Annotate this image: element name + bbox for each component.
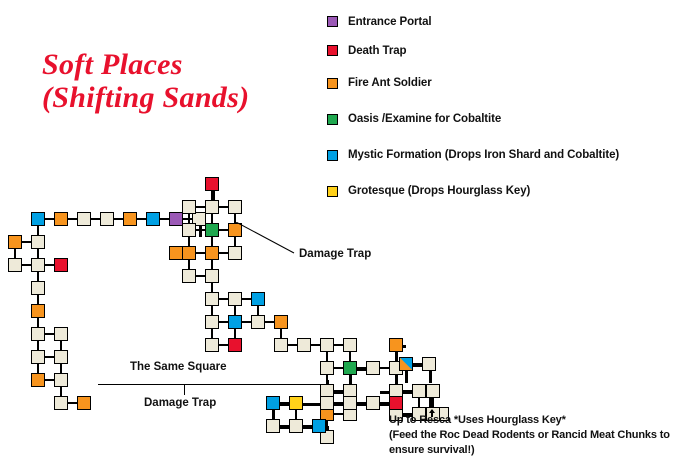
map-room-room[interactable] — [297, 338, 311, 352]
map-room-room[interactable] — [182, 200, 196, 214]
map-room-fireant[interactable] — [389, 338, 403, 352]
bottom-note: Up to Resca *Uses Hourglass Key* (Feed t… — [389, 413, 670, 458]
map-room-fireant[interactable] — [31, 373, 45, 387]
map-room-death[interactable] — [389, 396, 403, 410]
map-room-room[interactable] — [54, 396, 68, 410]
map-room-room[interactable] — [228, 292, 242, 306]
map-room-fireant[interactable] — [54, 212, 68, 226]
map-room-oasis[interactable] — [343, 361, 357, 375]
map-room-fireant[interactable] — [77, 396, 91, 410]
map-room-mystic[interactable] — [31, 212, 45, 226]
map-corridor — [199, 226, 202, 237]
map-room-room[interactable] — [251, 315, 265, 329]
annotation-damage-trap-upper: Damage Trap — [299, 248, 371, 260]
map-room-room[interactable] — [54, 327, 68, 341]
map-room-grotesque[interactable] — [289, 396, 303, 410]
map-room-fireant[interactable] — [274, 315, 288, 329]
map-room-room[interactable] — [205, 269, 219, 283]
map-room-room[interactable] — [228, 200, 242, 214]
map-room-fireant[interactable] — [8, 235, 22, 249]
map-room-fireant[interactable] — [182, 246, 196, 260]
map-room-room[interactable] — [54, 350, 68, 364]
map-room-room[interactable] — [320, 361, 334, 375]
map-room-room[interactable] — [31, 327, 45, 341]
map-room-mystic[interactable] — [266, 396, 280, 410]
map-room-oasis[interactable] — [205, 223, 219, 237]
map-room-room[interactable] — [266, 419, 280, 433]
map-room-mystic[interactable] — [228, 315, 242, 329]
map-room-room[interactable] — [422, 357, 436, 371]
map-room-room[interactable] — [205, 292, 219, 306]
map-room-room[interactable] — [228, 246, 242, 260]
map-canvas: Soft Places (Shifting Sands) Entrance Po… — [0, 0, 693, 461]
map-room-room[interactable] — [54, 373, 68, 387]
map-room-room[interactable] — [366, 361, 380, 375]
map-room-fireant[interactable] — [228, 223, 242, 237]
map-corridor — [405, 371, 408, 383]
map-room-room[interactable] — [182, 269, 196, 283]
map-room-room[interactable] — [205, 338, 219, 352]
map-room-room[interactable] — [343, 396, 357, 410]
map-room-room[interactable] — [182, 223, 196, 237]
map-room-fireant[interactable] — [169, 246, 183, 260]
map-room-room[interactable] — [289, 419, 303, 433]
map-room-room[interactable] — [320, 396, 334, 410]
map-room-room[interactable] — [31, 281, 45, 295]
map-room-room[interactable] — [320, 338, 334, 352]
map-room-fireant[interactable] — [31, 304, 45, 318]
map-room-death[interactable] — [228, 338, 242, 352]
map-room-room[interactable] — [31, 258, 45, 272]
leader-line-same-square — [98, 384, 322, 385]
map-room-death[interactable] — [205, 177, 219, 191]
map-room-portal[interactable] — [169, 212, 183, 226]
map-room-death[interactable] — [54, 258, 68, 272]
map-room-fireant[interactable] — [123, 212, 137, 226]
map-room-mystic[interactable] — [146, 212, 160, 226]
map-room-room[interactable] — [205, 315, 219, 329]
map-room-room[interactable] — [31, 350, 45, 364]
map-room-mystic[interactable] — [251, 292, 265, 306]
map-room-split[interactable] — [399, 357, 413, 371]
map-room-room[interactable] — [8, 258, 22, 272]
annotation-the-same-square: The Same Square — [130, 361, 227, 373]
dungeon-map — [0, 0, 693, 461]
map-room-room[interactable] — [77, 212, 91, 226]
map-room-mystic[interactable] — [312, 419, 326, 433]
map-corridor — [429, 371, 432, 383]
map-room-room[interactable] — [426, 384, 440, 398]
map-room-room[interactable] — [366, 396, 380, 410]
map-room-room[interactable] — [343, 338, 357, 352]
map-room-room[interactable] — [31, 235, 45, 249]
annotation-damage-trap-lower: Damage Trap — [144, 397, 216, 409]
map-room-room[interactable] — [412, 384, 426, 398]
map-room-room[interactable] — [274, 338, 288, 352]
map-room-room[interactable] — [100, 212, 114, 226]
map-room-fireant[interactable] — [205, 246, 219, 260]
leader-tick-damage-trap — [184, 384, 185, 395]
map-room-room[interactable] — [205, 200, 219, 214]
